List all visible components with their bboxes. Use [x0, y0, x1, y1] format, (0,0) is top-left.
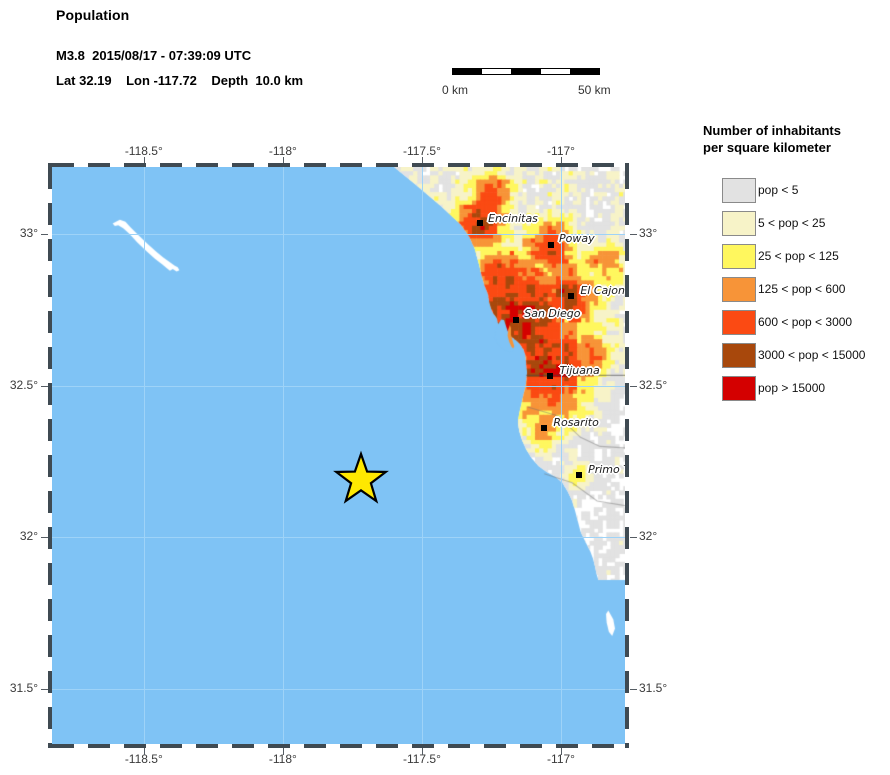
- axis-tick-label: 32°: [639, 529, 685, 543]
- map-frame-dash: [196, 163, 218, 167]
- population-map[interactable]: EncinitasPowayEl CajonSan DiegoTijuanaRo…: [52, 167, 625, 744]
- legend-color-swatch: [722, 277, 756, 302]
- map-frame-dash: [48, 599, 52, 621]
- map-frame-dash: [304, 744, 326, 748]
- map-frame-dash: [625, 599, 629, 621]
- city-label: Primo Tapia: [588, 463, 625, 476]
- axis-tick-mark: [630, 689, 637, 690]
- axis-tick-label: 32.5°: [0, 378, 38, 392]
- map-frame-dash: [232, 744, 254, 748]
- legend-label: pop < 5: [758, 183, 798, 197]
- map-frame-dash: [48, 347, 52, 369]
- map-gridline-vertical: [283, 167, 284, 744]
- legend-label: pop > 15000: [758, 381, 825, 395]
- legend-label: 5 < pop < 25: [758, 216, 825, 230]
- map-frame-dash: [556, 744, 578, 748]
- axis-tick-mark: [630, 234, 637, 235]
- legend-items: pop < 55 < pop < 2525 < pop < 125125 < p…: [703, 178, 889, 409]
- map-frame-dash: [448, 744, 470, 748]
- city-label: Poway: [559, 232, 595, 245]
- map-frame-corner: [625, 163, 629, 167]
- map-frame-dash: [340, 163, 362, 167]
- map-frame-dash: [48, 671, 52, 693]
- map-frame-dash: [520, 744, 542, 748]
- axis-tick-label: 33°: [0, 226, 38, 240]
- legend-item: 5 < pop < 25: [703, 211, 889, 244]
- city-label: San Diego: [524, 307, 580, 320]
- map-frame-dash: [340, 744, 362, 748]
- legend-item: 25 < pop < 125: [703, 244, 889, 277]
- axis-tick-label: 32°: [0, 529, 38, 543]
- city-marker: [513, 317, 519, 323]
- map-frame-dash: [88, 744, 110, 748]
- scale-bar-max-label: 50 km: [578, 83, 611, 97]
- axis-tick-label: 31.5°: [639, 681, 685, 695]
- legend-color-swatch: [722, 310, 756, 335]
- legend-color-swatch: [722, 376, 756, 401]
- map-frame-dash: [625, 419, 629, 441]
- city-label: Rosarito: [553, 416, 598, 429]
- axis-tick-mark: [41, 537, 48, 538]
- legend-item: 125 < pop < 600: [703, 277, 889, 310]
- axis-tick-mark: [283, 748, 284, 755]
- map-frame-dash: [376, 744, 398, 748]
- map-frame-dash: [48, 203, 52, 225]
- scale-bar-segment: [482, 68, 512, 75]
- city-marker: [541, 425, 547, 431]
- map-frame-dash: [196, 744, 218, 748]
- map-frame-dash: [625, 491, 629, 513]
- axis-tick-mark: [422, 748, 423, 755]
- axis-tick-label: 31.5°: [0, 681, 38, 695]
- map-canvas: EncinitasPowayEl CajonSan DiegoTijuanaRo…: [52, 167, 625, 744]
- map-frame-dash: [412, 744, 434, 748]
- legend-item: pop < 5: [703, 178, 889, 211]
- scale-bar-segment: [541, 68, 571, 75]
- map-frame-dash: [520, 163, 542, 167]
- city-marker: [568, 293, 574, 299]
- scale-bar-min-label: 0 km: [442, 83, 468, 97]
- map-frame-dash: [625, 527, 629, 549]
- legend-item: 3000 < pop < 15000: [703, 343, 889, 376]
- map-frame-dash: [52, 163, 74, 167]
- legend-label: 25 < pop < 125: [758, 249, 839, 263]
- map-frame-dash: [625, 203, 629, 225]
- map-frame-dash: [88, 163, 110, 167]
- axis-tick-mark: [561, 748, 562, 755]
- map-frame-dash: [48, 491, 52, 513]
- map-frame-dash: [48, 167, 52, 189]
- map-gridline-horizontal: [52, 386, 625, 387]
- event-summary-line: M3.8 2015/08/17 - 07:39:09 UTC: [56, 48, 251, 63]
- map-frame-dash: [484, 744, 506, 748]
- map-frame-dash: [625, 347, 629, 369]
- axis-tick-label: 33°: [639, 226, 685, 240]
- axis-tick-label: -117°: [545, 144, 578, 158]
- axis-tick-label: -117.5°: [399, 144, 445, 158]
- axis-tick-mark: [41, 234, 48, 235]
- map-frame-dash: [48, 635, 52, 657]
- map-frame-dash: [268, 163, 290, 167]
- map-gridline-horizontal: [52, 689, 625, 690]
- city-label: El Cajon: [580, 284, 625, 297]
- city-label: Tijuana: [559, 364, 599, 377]
- legend-item: pop > 15000: [703, 376, 889, 409]
- map-frame-dash: [48, 707, 52, 729]
- map-frame-dash: [625, 635, 629, 657]
- scale-bar-segment: [511, 68, 541, 75]
- epicenter-star-icon: [331, 450, 391, 515]
- legend-color-swatch: [722, 244, 756, 269]
- scale-bar-segment: [570, 68, 600, 75]
- map-frame-dash: [625, 563, 629, 585]
- map-frame-dash: [625, 671, 629, 693]
- map-frame-dash: [625, 383, 629, 405]
- legend-label: 125 < pop < 600: [758, 282, 845, 296]
- map-frame-dash: [48, 311, 52, 333]
- map-frame-dash: [625, 455, 629, 477]
- map-frame-corner: [625, 744, 629, 748]
- legend-label: 600 < pop < 3000: [758, 315, 852, 329]
- legend-color-swatch: [722, 211, 756, 236]
- map-frame-dash: [625, 167, 629, 189]
- axis-tick-mark: [144, 748, 145, 755]
- map-frame-dash: [625, 275, 629, 297]
- map-frame-dash: [52, 744, 74, 748]
- map-frame-dash: [484, 163, 506, 167]
- scale-bar-segment: [452, 68, 482, 75]
- city-marker: [547, 373, 553, 379]
- map-frame-dash: [625, 707, 629, 729]
- axis-tick-label: -118.5°: [121, 144, 167, 158]
- map-gridline-vertical: [422, 167, 423, 744]
- city-marker: [576, 472, 582, 478]
- map-gridline-horizontal: [52, 537, 625, 538]
- axis-tick-label: 32.5°: [639, 378, 685, 392]
- legend-title: Number of inhabitants per square kilomet…: [703, 122, 889, 156]
- page-title: Population: [56, 7, 129, 23]
- event-location-line: Lat 32.19 Lon -117.72 Depth 10.0 km: [56, 73, 303, 88]
- map-frame-dash: [48, 383, 52, 405]
- map-frame-dash: [48, 275, 52, 297]
- map-frame-dash: [268, 744, 290, 748]
- map-frame-dash: [48, 563, 52, 585]
- city-label: Encinitas: [488, 212, 538, 225]
- map-frame-dash: [556, 163, 578, 167]
- map-frame-dash: [160, 163, 182, 167]
- map-frame-dash: [160, 744, 182, 748]
- city-marker: [477, 220, 483, 226]
- legend: Number of inhabitants per square kilomet…: [703, 122, 889, 409]
- map-frame-dash: [625, 311, 629, 333]
- map-gridline-vertical: [561, 167, 562, 744]
- map-frame-dash: [592, 163, 614, 167]
- legend-item: 600 < pop < 3000: [703, 310, 889, 343]
- map-frame-dash: [592, 744, 614, 748]
- axis-tick-mark: [630, 386, 637, 387]
- map-gridline-vertical: [144, 167, 145, 744]
- map-frame-dash: [48, 527, 52, 549]
- map-frame-dash: [124, 163, 146, 167]
- axis-tick-mark: [41, 386, 48, 387]
- axis-tick-mark: [630, 537, 637, 538]
- map-frame-dash: [48, 239, 52, 261]
- city-marker: [548, 242, 554, 248]
- map-frame-dash: [124, 744, 146, 748]
- axis-tick-label: -118°: [266, 144, 299, 158]
- axis-tick-mark: [41, 689, 48, 690]
- map-frame-dash: [304, 163, 326, 167]
- map-frame-corner: [48, 744, 52, 748]
- map-frame-corner: [48, 163, 52, 167]
- map-frame-dash: [48, 455, 52, 477]
- map-frame-dash: [232, 163, 254, 167]
- map-gridline-horizontal: [52, 234, 625, 235]
- map-frame-dash: [48, 419, 52, 441]
- legend-color-swatch: [722, 343, 756, 368]
- map-frame-dash: [376, 163, 398, 167]
- map-frame-dash: [448, 163, 470, 167]
- map-frame-dash: [625, 239, 629, 261]
- legend-color-swatch: [722, 178, 756, 203]
- scale-bar: [452, 68, 600, 76]
- map-frame-dash: [412, 163, 434, 167]
- legend-label: 3000 < pop < 15000: [758, 348, 865, 362]
